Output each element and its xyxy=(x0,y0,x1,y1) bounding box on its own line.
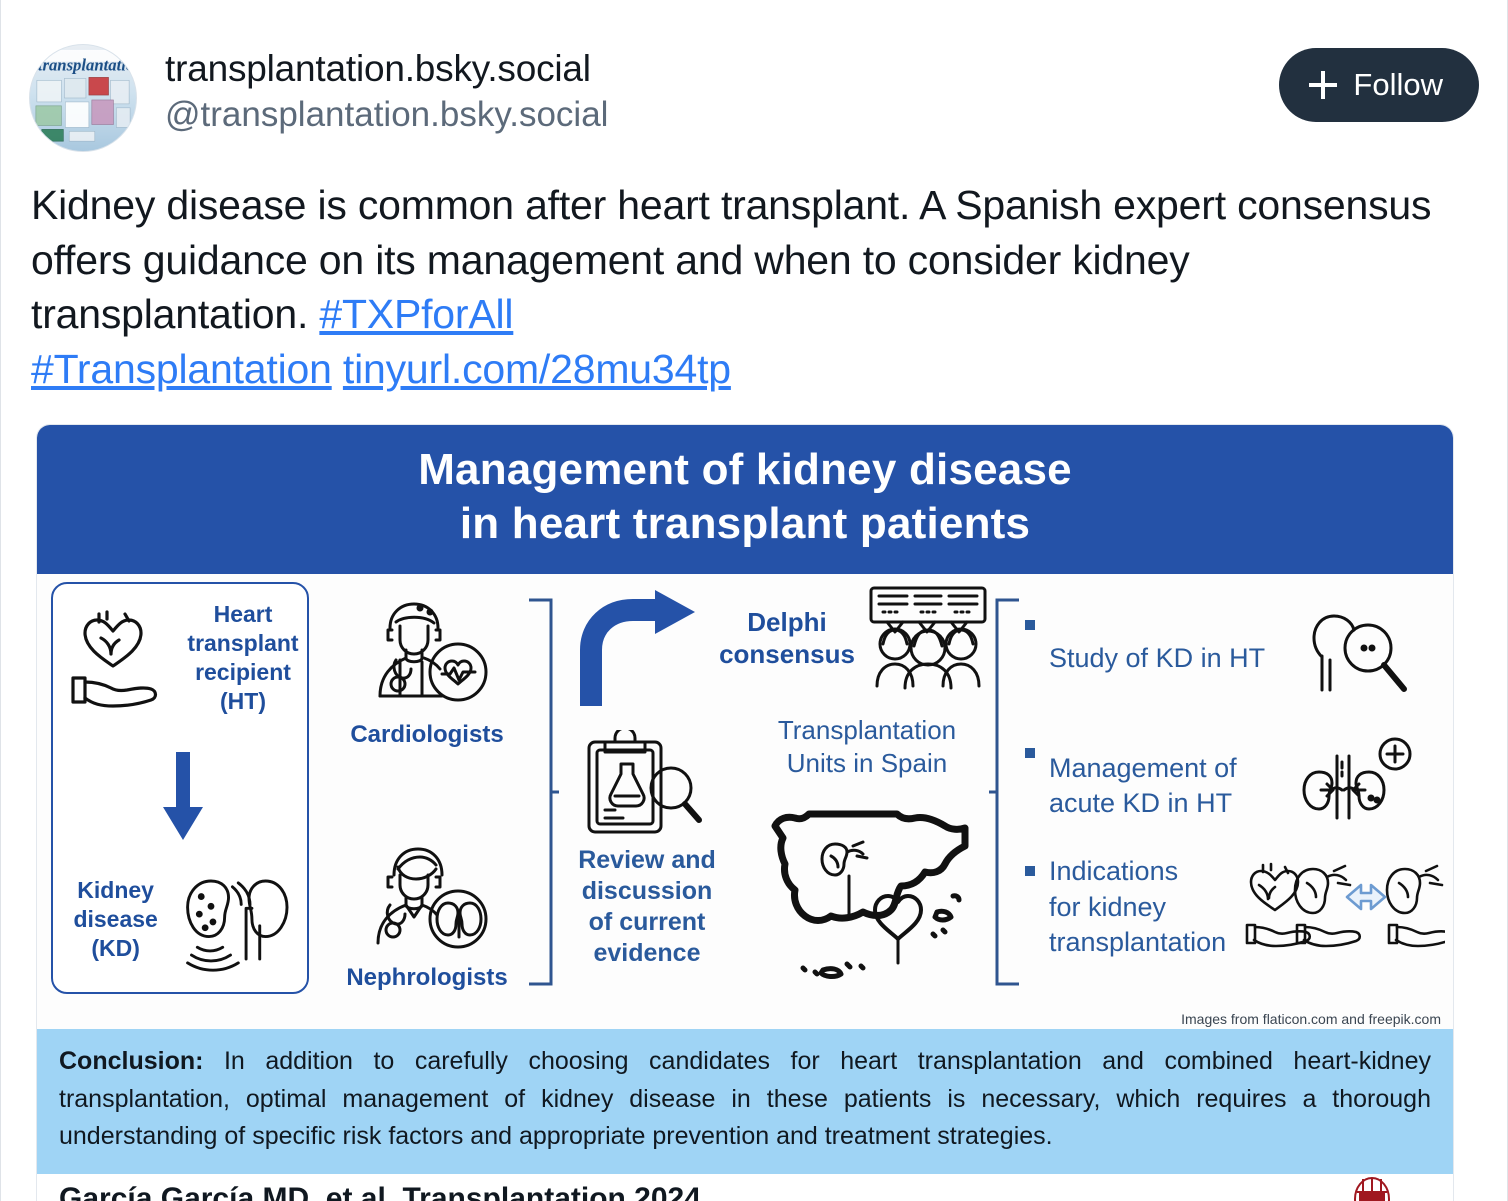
post-text-body: Kidney disease is common after heart tra… xyxy=(31,182,1431,337)
cardiologist-icon xyxy=(360,592,494,712)
infographic-body: Heart transplant recipient (HT) Kidney d… xyxy=(37,574,1453,1029)
heart-kidney-exchange-icon xyxy=(1245,859,1445,955)
specialists-column: Cardiologists xyxy=(337,592,517,992)
bullet-square-icon xyxy=(1025,866,1035,876)
outcome-icon-group xyxy=(1269,608,1445,708)
kidney-disease-label: Kidney disease (KD) xyxy=(63,876,168,962)
outcome-item: Management of acute KD in HT xyxy=(1025,736,1445,836)
specialist-cardiologists: Cardiologists xyxy=(350,592,503,749)
bullet-square-icon xyxy=(1025,748,1035,758)
bullet-square-icon xyxy=(1025,620,1035,630)
heart-transplant-row: Heart transplant recipient (HT) xyxy=(53,584,307,715)
infographic-banner: Management of kidney disease in heart tr… xyxy=(37,425,1453,574)
conclusion-body: In addition to carefully choosing candid… xyxy=(59,1047,1431,1150)
post-header: transplantation transplantation.bsky.soc… xyxy=(1,0,1507,152)
kidney-magnifier-icon xyxy=(1302,608,1412,708)
curved-arrow-icon xyxy=(577,590,697,710)
outcome-label: Indications for kidney transplantation xyxy=(1049,854,1245,959)
down-arrow-icon xyxy=(161,752,205,842)
outcome-icon-group xyxy=(1269,736,1445,836)
avatar[interactable]: transplantation xyxy=(29,44,137,152)
bracket-left-icon xyxy=(525,596,559,988)
image-credit: Images from flaticon.com and freepik.com xyxy=(1181,1011,1441,1027)
outcome-label: Study of KD in HT xyxy=(1049,641,1269,676)
review-column: Review and discussion of current evidenc… xyxy=(567,590,727,990)
specialist-label: Nephrologists xyxy=(346,964,507,992)
hashtag-transplantation[interactable]: #Transplantation xyxy=(31,346,332,392)
follow-button-label: Follow xyxy=(1353,67,1443,103)
citation-strip: García García MD, et al. Transplantation… xyxy=(37,1174,1453,1201)
specialist-label: Cardiologists xyxy=(350,721,503,749)
hand-holding-heart-icon xyxy=(63,602,183,714)
bluesky-post-card: transplantation transplantation.bsky.soc… xyxy=(0,0,1508,1201)
diseased-kidney-icon xyxy=(172,864,299,974)
kidneys-plus-icon xyxy=(1297,736,1417,836)
conclusion-label: Conclusion: xyxy=(59,1047,203,1075)
delphi-label: Delphi consensus xyxy=(717,606,857,671)
clipboard-magnifier-icon xyxy=(579,730,709,840)
group-discussion-icon xyxy=(863,582,993,694)
spain-label: Transplantation Units in Spain xyxy=(737,714,997,780)
banner-title-line-2: in heart transplant patients xyxy=(37,497,1453,551)
journal-logo-icon xyxy=(1349,1176,1395,1201)
outcome-item: Indications for kidney transplantation xyxy=(1025,854,1445,959)
heart-transplant-label: Heart transplant recipient (HT) xyxy=(187,600,299,715)
post-link[interactable]: tinyurl.com/28mu34tp xyxy=(343,346,731,392)
nephrologist-icon xyxy=(360,835,494,955)
spain-map-icon xyxy=(757,784,977,984)
outcomes-list: Study of KD in HT xyxy=(1025,596,1445,988)
kidney-disease-row: Kidney disease (KD) xyxy=(53,864,307,974)
outcome-icon-group xyxy=(1245,859,1445,955)
specialist-nephrologists: Nephrologists xyxy=(346,835,507,992)
outcome-item: Study of KD in HT xyxy=(1025,608,1445,708)
avatar-journal-cover-icon: transplantation xyxy=(30,45,136,151)
spain-block: Transplantation Units in Spain xyxy=(737,714,997,989)
plus-icon xyxy=(1309,71,1337,99)
outcome-label: Management of acute KD in HT xyxy=(1049,751,1269,821)
banner-title-line-1: Management of kidney disease xyxy=(37,443,1453,497)
delphi-row: Delphi consensus xyxy=(717,582,997,694)
follow-button[interactable]: Follow xyxy=(1279,48,1479,122)
post-text: Kidney disease is common after heart tra… xyxy=(1,152,1507,396)
heart-transplant-panel: Heart transplant recipient (HT) Kidney d… xyxy=(51,582,309,994)
hashtag-txpforall[interactable]: #TXPforAll xyxy=(319,291,513,337)
handle[interactable]: @transplantation.bsky.social xyxy=(165,95,608,134)
conclusion-box: Conclusion: In addition to carefully cho… xyxy=(37,1029,1453,1174)
infographic-image[interactable]: Management of kidney disease in heart tr… xyxy=(36,424,1454,1201)
bracket-right-icon xyxy=(989,596,1023,988)
display-name[interactable]: transplantation.bsky.social xyxy=(165,48,608,89)
identity-block: transplantation.bsky.social @transplanta… xyxy=(165,44,608,135)
citation-text: García García MD, et al. Transplantation… xyxy=(59,1182,701,1201)
svg-text:transplantation: transplantation xyxy=(38,56,136,75)
review-label: Review and discussion of current evidenc… xyxy=(567,845,727,969)
